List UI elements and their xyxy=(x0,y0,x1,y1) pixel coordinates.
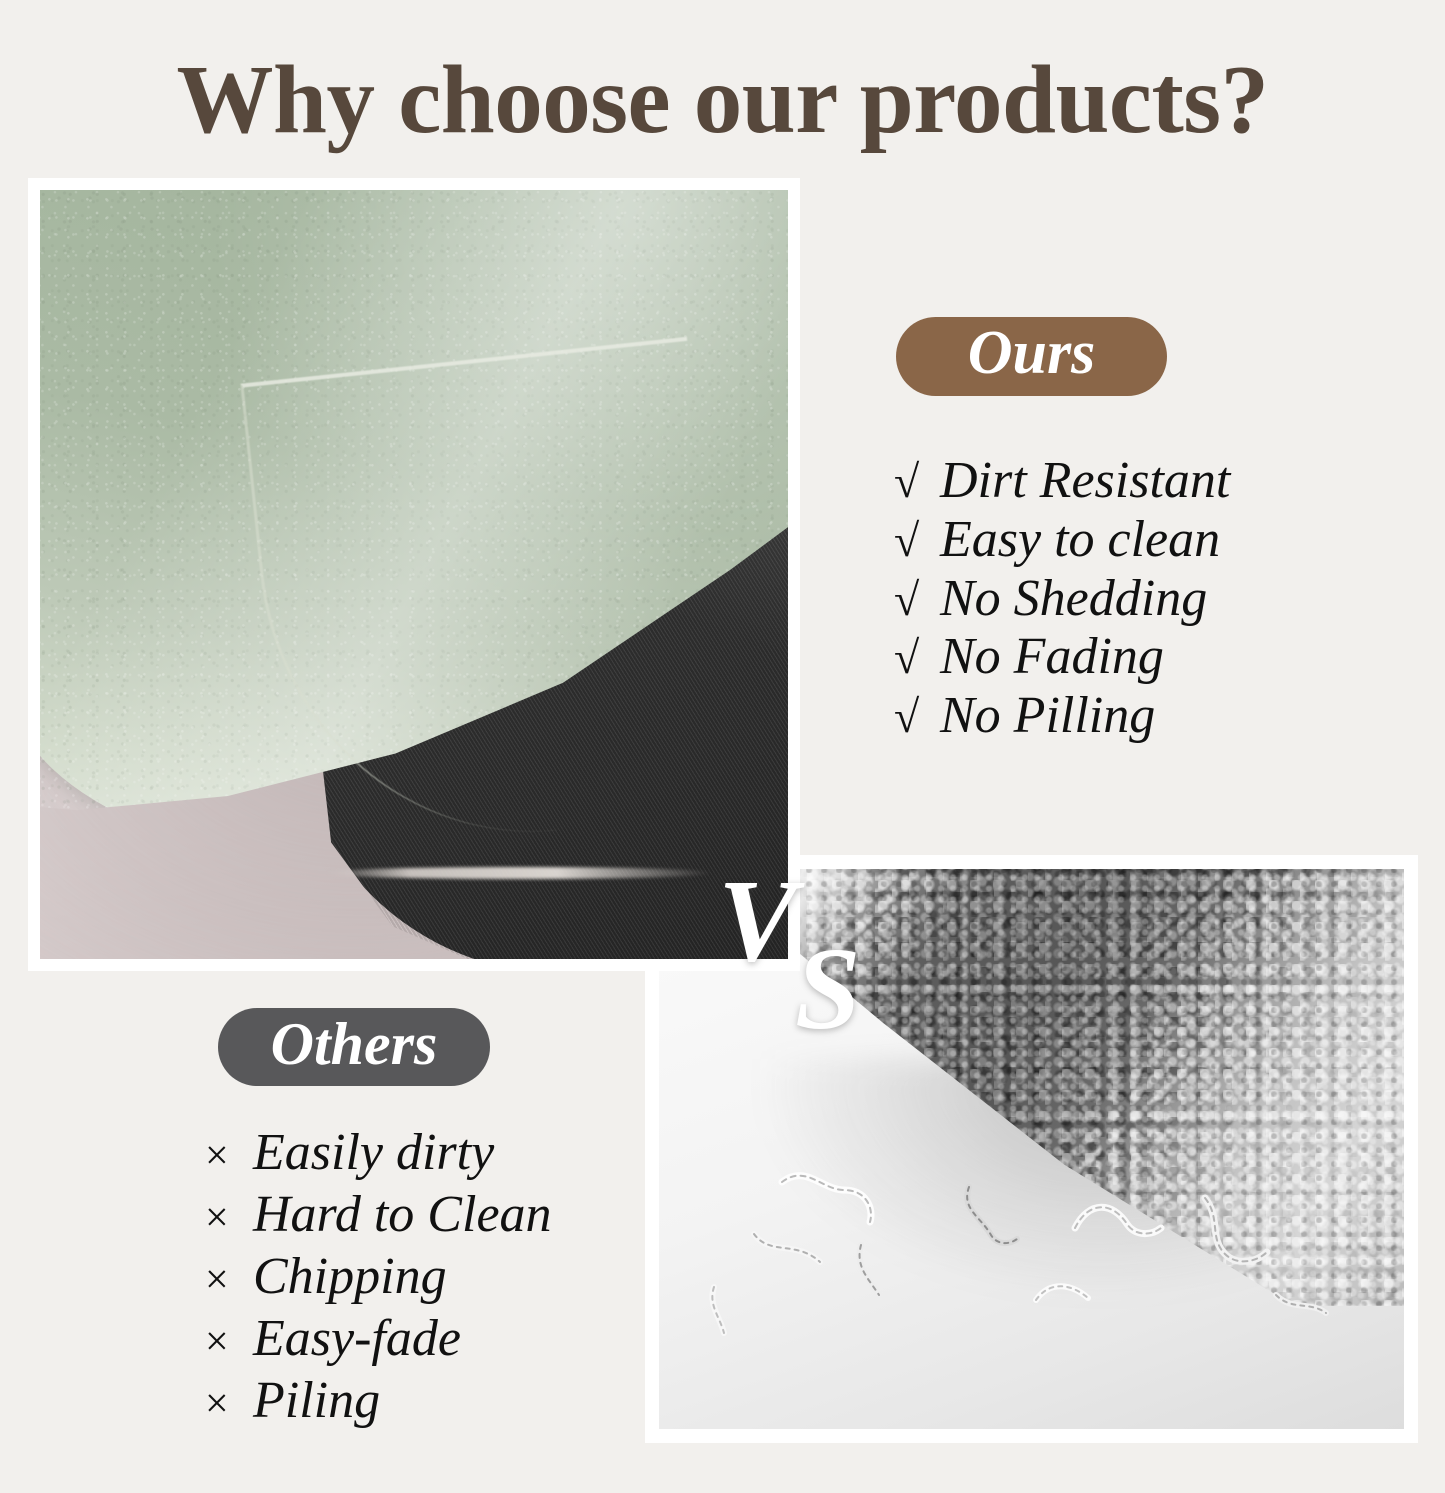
check-icon: √ xyxy=(894,632,940,684)
list-item: × Easy-fade xyxy=(205,1308,552,1370)
cross-icon: × xyxy=(205,1318,253,1368)
shed-thread xyxy=(957,1183,1067,1255)
others-feature-label: Easily dirty xyxy=(253,1122,494,1184)
cross-icon: × xyxy=(205,1132,253,1182)
ours-photo-frame xyxy=(28,178,800,971)
check-icon: √ xyxy=(894,574,940,626)
list-item: √ Easy to clean xyxy=(894,511,1230,570)
list-item: √ No Shedding xyxy=(894,570,1230,629)
shed-thread xyxy=(748,1222,868,1282)
list-item: √ No Pilling xyxy=(894,687,1230,746)
ours-feature-label: No Pilling xyxy=(940,687,1155,746)
check-icon: √ xyxy=(894,515,940,567)
ours-product-photo xyxy=(40,190,788,959)
page-title: Why choose our products? xyxy=(0,48,1445,153)
ours-feature-list: √ Dirt Resistant √ Easy to clean √ No Sh… xyxy=(894,452,1230,746)
shed-thread xyxy=(778,1160,928,1226)
cross-icon: × xyxy=(205,1194,253,1244)
shed-thread xyxy=(704,1283,784,1339)
ours-feature-label: Easy to clean xyxy=(940,511,1220,570)
ours-feature-label: No Shedding xyxy=(940,570,1207,629)
shed-thread xyxy=(1069,1188,1189,1254)
others-feature-label: Piling xyxy=(253,1370,380,1432)
list-item: × Piling xyxy=(205,1370,552,1432)
list-item: × Hard to Clean xyxy=(205,1184,552,1246)
others-feature-label: Easy-fade xyxy=(253,1308,461,1370)
shed-thread xyxy=(853,1239,953,1305)
cross-icon: × xyxy=(205,1256,253,1306)
ours-feature-label: No Fading xyxy=(940,628,1164,687)
list-item: √ Dirt Resistant xyxy=(894,452,1230,511)
shed-thread xyxy=(1032,1272,1122,1312)
cross-icon: × xyxy=(205,1380,253,1430)
ours-mat-edge-rim xyxy=(324,867,713,879)
list-item: × Easily dirty xyxy=(205,1122,552,1184)
shed-thread xyxy=(1270,1283,1350,1323)
list-item: √ No Fading xyxy=(894,628,1230,687)
check-icon: √ xyxy=(894,691,940,743)
list-item: × Chipping xyxy=(205,1246,552,1308)
others-feature-label: Chipping xyxy=(253,1246,447,1308)
shed-thread xyxy=(1195,1194,1315,1274)
ours-badge: Ours xyxy=(896,317,1167,396)
ours-feature-label: Dirt Resistant xyxy=(940,452,1230,511)
others-feature-list: × Easily dirty × Hard to Clean × Chippin… xyxy=(205,1122,552,1431)
others-feature-label: Hard to Clean xyxy=(253,1184,552,1246)
others-badge: Others xyxy=(218,1008,490,1086)
check-icon: √ xyxy=(894,456,940,508)
